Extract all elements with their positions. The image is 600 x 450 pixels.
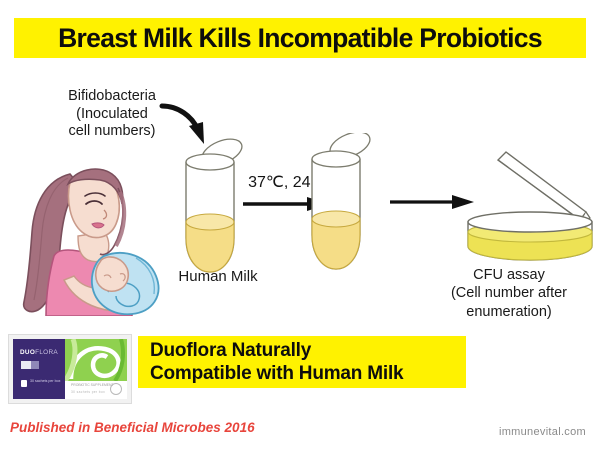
cfu-label-line1: CFU assay (418, 266, 600, 284)
product-box-right-panel: PROBIOTIC SUPPLEMENT 30 sachets per box (65, 339, 127, 399)
product-caption: PROBIOTIC SUPPLEMENT (71, 383, 114, 387)
page-title: Breast Milk Kills Incompatible Probiotic… (58, 25, 542, 52)
tagline-line1: Duoflora Naturally (150, 339, 466, 362)
product-chip-graphic (21, 361, 39, 369)
product-bullet-icon (21, 380, 27, 387)
product-box-image: DUOFLORA 30 sachets per box PROBIOTIC SU… (8, 334, 132, 404)
product-brand-logo: DUOFLORA (20, 349, 58, 356)
citation-text: Published in Beneficial Microbes 2016 (10, 420, 255, 435)
human-milk-label: Human Milk (158, 268, 278, 285)
cfu-label-line3: enumeration) (418, 303, 600, 321)
brand-name-bold: DUO (20, 349, 35, 356)
green-swirl-graphic (65, 339, 127, 381)
source-website: immunevital.com (499, 426, 586, 438)
tagline-line2: Compatible with Human Milk (150, 362, 466, 385)
milk-tube-1 (172, 138, 248, 278)
product-barcode-text: 30 sachets per box (71, 390, 105, 394)
cfu-assay-label: CFU assay (Cell number after enumeration… (418, 266, 600, 321)
mother-breastfeeding-icon (8, 152, 174, 316)
product-seal-icon (110, 383, 122, 395)
product-box-artwork: DUOFLORA 30 sachets per box PROBIOTIC SU… (13, 339, 127, 399)
cfu-label-line2: (Cell number after (418, 284, 600, 302)
title-banner: Breast Milk Kills Incompatible Probiotic… (14, 18, 586, 58)
milk-tube-2 (298, 133, 374, 273)
brand-name-light: FLORA (35, 349, 58, 356)
product-box-left-panel: DUOFLORA 30 sachets per box (13, 339, 65, 399)
product-box-fineprint: 30 sachets per box (30, 379, 62, 384)
tagline-banner: Duoflora Naturally Compatible with Human… (138, 336, 466, 388)
petri-dish-icon (462, 150, 598, 268)
infographic-canvas: Breast Milk Kills Incompatible Probiotic… (0, 0, 600, 450)
